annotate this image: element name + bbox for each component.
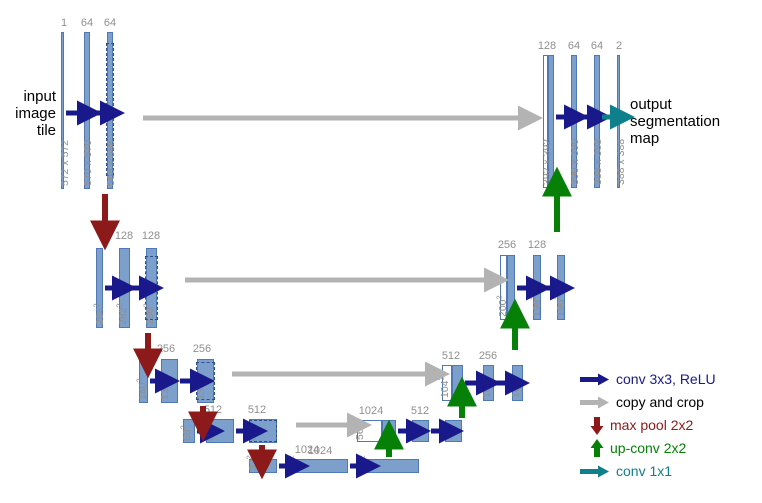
size-label-l4e2: 542 — [411, 424, 422, 440]
size-label-l2e1: 2002 — [498, 295, 509, 317]
legend: conv 3x3, ReLU copy and crop max pool 2x… — [578, 368, 760, 483]
input-label-line1: input — [0, 88, 56, 105]
size-label-l4c3: 642 — [248, 425, 259, 441]
legend-label-upconv: up-conv 2x2 — [610, 440, 686, 456]
channel-label-l2c2: 128 — [112, 231, 136, 242]
size-label-l5b2: 302 — [290, 455, 301, 471]
channel-label-l4-bottomleft-1024: 1024 — [303, 446, 337, 457]
channel-label-l1e4: 2 — [612, 41, 626, 52]
size-label-l4c2: 662 — [205, 425, 216, 441]
arrow-up-green-icon — [586, 437, 608, 460]
channel-label-l1e1: 128 — [534, 41, 560, 52]
arrow-right-teal-icon — [578, 460, 612, 483]
legend-row-copy-crop: copy and crop — [578, 391, 760, 414]
size-label-l2c2: 2822 — [118, 303, 129, 325]
channel-label-l2c3: 128 — [139, 231, 163, 242]
channel-label-l2e2: 128 — [524, 240, 550, 251]
channel-label-l1c3: 64 — [101, 18, 119, 29]
size-label-l1e2: 390 x 390 — [570, 139, 581, 185]
arrow-down-darkred-icon — [586, 414, 608, 437]
size-label-l4e1: 562 — [355, 424, 366, 440]
channel-label-l4e1: 1024 — [355, 406, 387, 417]
channel-label-l3e2: 256 — [474, 351, 502, 362]
channel-label-l3e1: 512 — [437, 351, 465, 362]
size-label-l2c1: 2842 — [95, 303, 106, 325]
channel-label-l4c2: 512 — [199, 405, 227, 416]
legend-label-conv3x3: conv 3x3, ReLU — [616, 371, 716, 387]
upconv-arrows — [389, 193, 557, 457]
size-label-l3e1: 1042 — [440, 376, 451, 398]
input-label-line3: tile — [0, 122, 56, 139]
size-label-l1c2: 570 x 570 — [83, 140, 94, 186]
channel-label-l1e3: 64 — [588, 41, 606, 52]
legend-label-maxpool: max pool 2x2 — [610, 417, 693, 433]
feature-map-l3e1 — [452, 365, 463, 401]
channel-label-l1e2: 64 — [565, 41, 583, 52]
legend-label-copy-crop: copy and crop — [616, 394, 704, 410]
size-label-l2e3: 1962 — [556, 295, 567, 317]
size-label-l3e3: 1002 — [511, 376, 522, 398]
channel-label-l4c3: 512 — [243, 405, 271, 416]
legend-row-conv3x3: conv 3x3, ReLU — [578, 368, 760, 391]
legend-row-conv1x1: conv 1x1 — [578, 460, 760, 483]
size-label-l1c1: 572 x 572 — [60, 140, 71, 186]
output-label-line1: output — [630, 96, 720, 113]
channel-label-l3c2: 256 — [153, 344, 179, 355]
size-label-l3c3: 1362 — [196, 378, 207, 400]
output-label-line3: map — [630, 130, 720, 147]
channel-label-l2e1: 256 — [494, 240, 520, 251]
legend-label-conv1x1: conv 1x1 — [616, 463, 672, 479]
size-label-l1c3: 568 x 568 — [106, 140, 117, 186]
input-label: input image tile — [0, 88, 56, 139]
unet-architecture-diagram: 1 572 x 572 64 570 x 570 64 568 x 568 in… — [0, 0, 762, 503]
channel-label-l1c1: 1 — [57, 18, 71, 29]
size-label-l4c1: 682 — [182, 425, 193, 441]
feature-map-l4e1 — [382, 420, 396, 442]
size-label-l3e2: 1022 — [482, 376, 493, 398]
size-label-l2c3: 2802 — [145, 303, 156, 325]
channel-label-l4e2: 512 — [404, 406, 436, 417]
size-label-l1e4: 388 x 388 — [616, 139, 627, 185]
channel-label-l1c2: 64 — [78, 18, 96, 29]
arrow-right-gray-icon — [578, 391, 612, 414]
size-label-l1e3: 388 x 388 — [593, 139, 604, 185]
legend-row-maxpool: max pool 2x2 — [578, 414, 760, 437]
size-label-l5b3: 282 — [361, 455, 372, 471]
size-label-l3c2: 1382 — [160, 378, 171, 400]
size-label-l3c1: 1402 — [138, 378, 149, 400]
output-label: output segmentation map — [630, 96, 720, 147]
channel-label-l3c3: 256 — [189, 344, 215, 355]
size-label-l4e3: 522 — [444, 424, 455, 440]
size-label-l1e1: 392 x 392 — [542, 139, 553, 185]
legend-row-upconv: up-conv 2x2 — [578, 437, 760, 460]
output-label-line2: segmentation — [630, 113, 720, 130]
input-label-line2: image — [0, 105, 56, 122]
size-label-l5b1: 322 — [248, 455, 259, 471]
size-label-l2e2: 1982 — [532, 295, 543, 317]
arrow-right-navy-icon — [578, 368, 612, 391]
